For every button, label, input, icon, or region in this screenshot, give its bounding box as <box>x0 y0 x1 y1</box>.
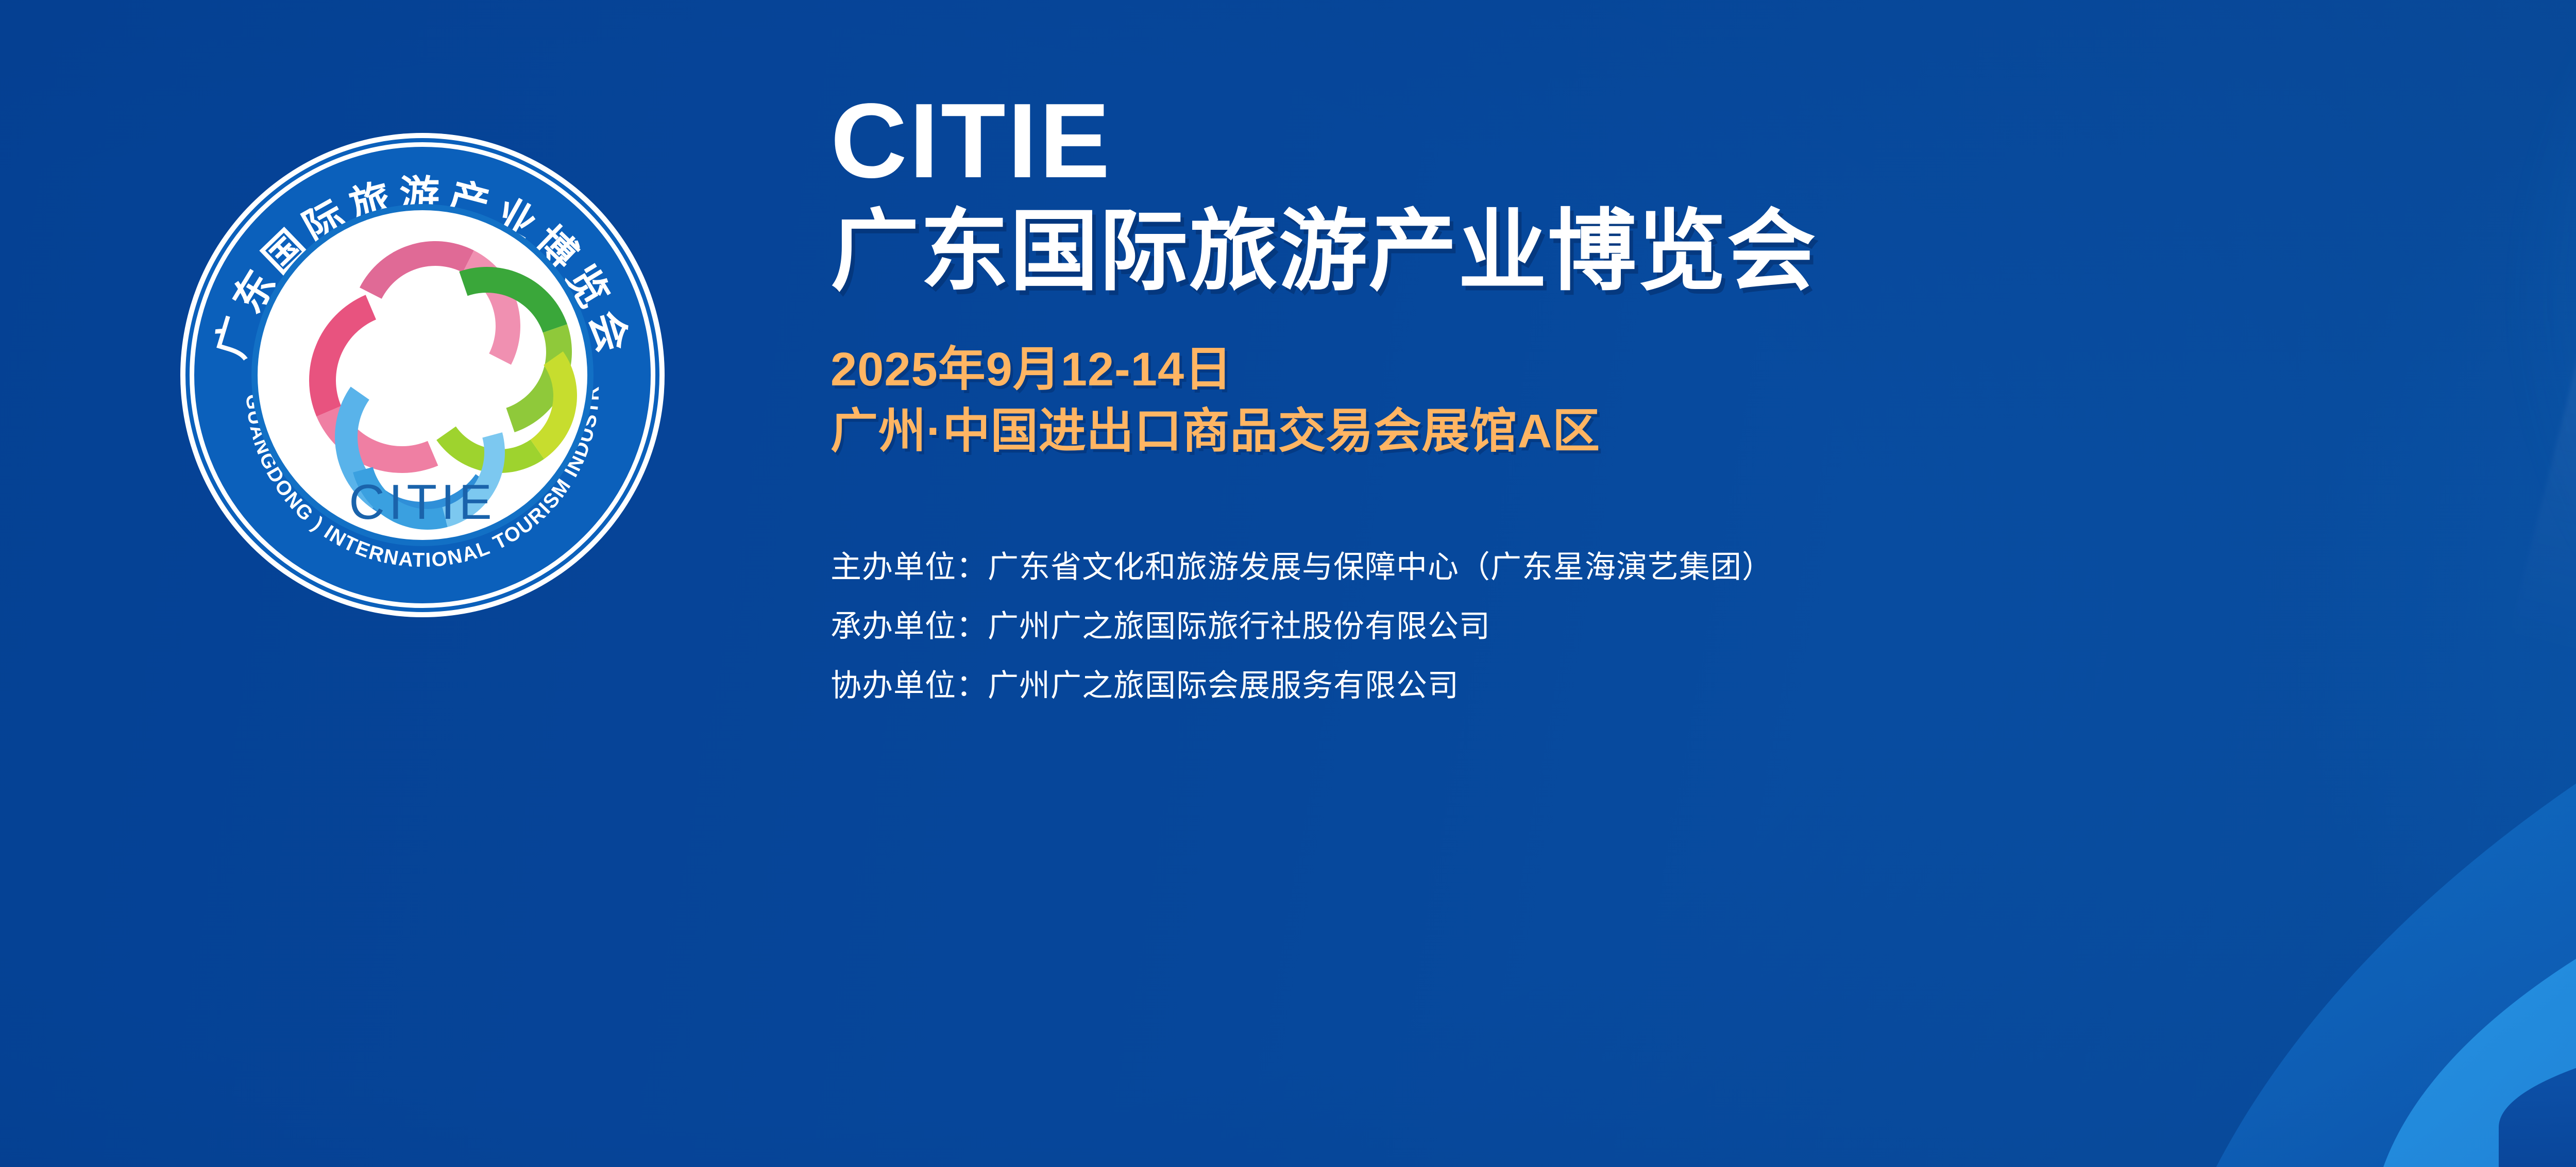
list-item: 承办单位：广州广之旅国际旅行社股份有限公司 <box>831 597 2576 656</box>
headline-block: CITIE 广东国际旅游产业博览会 2025年9月12-14日 广州·中国进出口… <box>831 88 2576 716</box>
event-date: 2025年9月12-14日 <box>831 341 2576 398</box>
logo-acronym: CITIE <box>180 474 665 531</box>
list-item: 主办单位：广东省文化和旅游发展与保障中心（广东星海演艺集团） <box>831 537 2576 597</box>
event-venue: 广州·中国进出口商品交易会展馆A区 <box>831 402 2576 460</box>
page-title-cn: 广东国际旅游产业博览会 <box>831 202 2576 301</box>
citie-banner: 愿美好世界与你相遇 | Meet the Wonderful World 广东国… <box>0 0 2576 1167</box>
list-item: 协办单位：广州广之旅国际会展服务有限公司 <box>831 656 2576 715</box>
organizer-list: 主办单位：广东省文化和旅游发展与保障中心（广东星海演艺集团） 承办单位：广州广之… <box>831 537 2576 716</box>
citie-logo[interactable]: 广东国际旅游产业博览会 CHINA ( GUANGDONG ) INTERNAT… <box>180 133 665 617</box>
page-title-en: CITIE <box>831 88 2576 194</box>
